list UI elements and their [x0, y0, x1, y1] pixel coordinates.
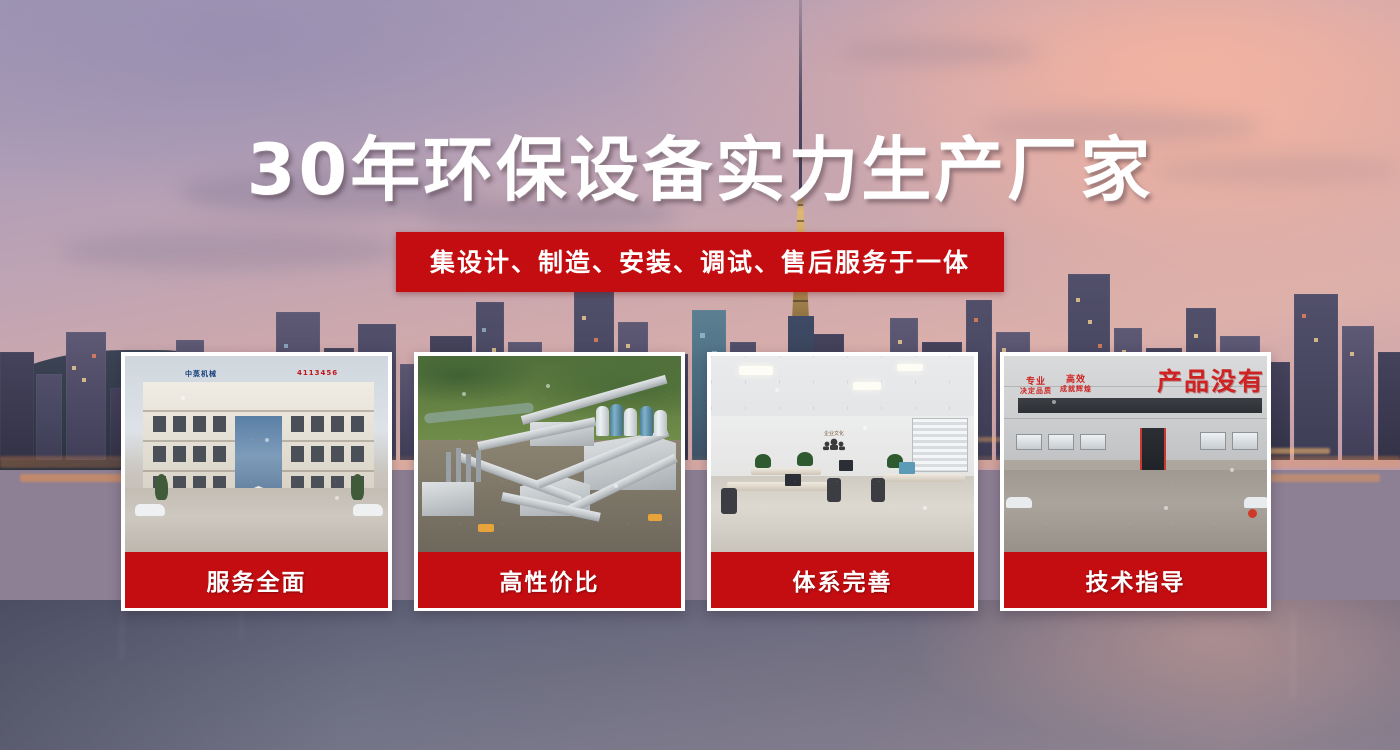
exhaust-stack	[446, 452, 451, 482]
office-chair	[827, 478, 841, 502]
building-phone-number: 4113456	[297, 369, 338, 377]
staff-person	[297, 496, 304, 522]
card-caption: 体系完善	[711, 552, 974, 608]
office-worker	[819, 456, 829, 478]
staff-person	[185, 496, 192, 522]
staff-person	[329, 496, 336, 522]
card-caption: 技术指导	[1004, 552, 1267, 608]
office-worker	[749, 456, 759, 478]
excavator	[478, 524, 494, 532]
staff-person	[249, 496, 256, 522]
worker	[1026, 492, 1040, 538]
feature-card[interactable]: 产品没有 专业 决定品质 高效 成就辉煌	[1000, 352, 1271, 611]
exhaust-stack	[456, 448, 461, 482]
feature-card[interactable]: 中蒸机械 4113456	[121, 352, 392, 611]
silo	[596, 406, 609, 436]
parked-car	[1244, 497, 1267, 508]
excavator	[648, 514, 662, 521]
office-chair	[871, 478, 885, 502]
factory-window	[1080, 434, 1106, 450]
worker	[1090, 492, 1104, 538]
wall-decal-icon: 企业文化	[819, 428, 849, 454]
ceiling-light	[853, 382, 881, 390]
silo	[640, 406, 653, 436]
exhaust-stack	[466, 454, 471, 482]
office-desk	[727, 482, 831, 491]
supervisor	[1232, 492, 1246, 538]
subtitle-banner: 集设计、制造、安装、调试、售后服务于一体	[396, 232, 1004, 292]
worker	[1128, 492, 1142, 538]
card-photo-office-building: 中蒸机械 4113456	[125, 356, 388, 552]
factory-door	[1140, 428, 1166, 472]
factory-window	[1016, 434, 1042, 450]
water-sheen	[880, 600, 1400, 750]
exhaust-stack	[476, 450, 481, 482]
factory-window	[1232, 432, 1258, 450]
subtitle-wrapper: 集设计、制造、安装、调试、售后服务于一体	[0, 232, 1400, 292]
factory-shed	[422, 482, 474, 516]
silo	[610, 404, 623, 436]
ceiling-light	[739, 366, 773, 375]
parked-car	[353, 504, 383, 516]
building-company-sign: 中蒸机械	[185, 369, 217, 379]
staff-person	[281, 496, 288, 522]
card-photo-plant-aerial	[418, 356, 681, 552]
hero-banner: 30年环保设备实力生产厂家 集设计、制造、安装、调试、售后服务于一体	[0, 0, 1400, 750]
silo	[654, 410, 667, 436]
factory-main-slogan: 产品没有	[1157, 362, 1265, 398]
staff-person	[265, 496, 272, 522]
factory-window	[1200, 432, 1226, 450]
tree	[155, 474, 168, 500]
staff-person	[345, 496, 352, 522]
feature-card[interactable]: 高性价比	[414, 352, 685, 611]
card-photo-office-interior: 企业文化	[711, 356, 974, 552]
page-title: 30年环保设备实力生产厂家	[247, 133, 1153, 207]
card-caption: 服务全面	[125, 552, 388, 608]
card-photo-workshop-training: 产品没有 专业 决定品质 高效 成就辉煌	[1004, 356, 1267, 552]
silo	[624, 408, 637, 436]
headline-wrapper: 30年环保设备实力生产厂家	[0, 133, 1400, 207]
potted-plant	[797, 452, 813, 466]
svg-text:企业文化: 企业文化	[824, 430, 844, 437]
computer-monitor	[899, 462, 915, 474]
factory-window	[1048, 434, 1074, 450]
office-worker	[887, 460, 897, 482]
staff-person	[217, 496, 224, 522]
staff-person	[201, 496, 208, 522]
staff-person	[169, 496, 176, 522]
factory-slogan-d: 成就辉煌	[1060, 384, 1092, 394]
office-building	[143, 382, 374, 492]
worker	[1066, 492, 1080, 538]
cloud	[840, 40, 1040, 64]
feature-card-list: 中蒸机械 4113456	[121, 352, 1279, 611]
computer-monitor	[785, 474, 801, 486]
office-worker	[933, 456, 943, 478]
ceiling-light	[897, 364, 923, 371]
card-caption: 高性价比	[418, 552, 681, 608]
office-worker	[735, 460, 745, 482]
office-worker	[853, 452, 863, 474]
river-water	[0, 600, 1400, 750]
computer-monitor	[839, 460, 853, 471]
tree	[351, 474, 364, 500]
feature-card[interactable]: 企业文化	[707, 352, 978, 611]
parked-car	[135, 504, 165, 516]
staff-person	[233, 496, 240, 522]
red-helmet	[1248, 509, 1257, 518]
staff-person	[313, 496, 320, 522]
worker	[1144, 492, 1158, 538]
worker	[1110, 492, 1124, 538]
office-chair	[721, 488, 737, 514]
factory-slogan-b: 决定品质	[1020, 386, 1052, 396]
